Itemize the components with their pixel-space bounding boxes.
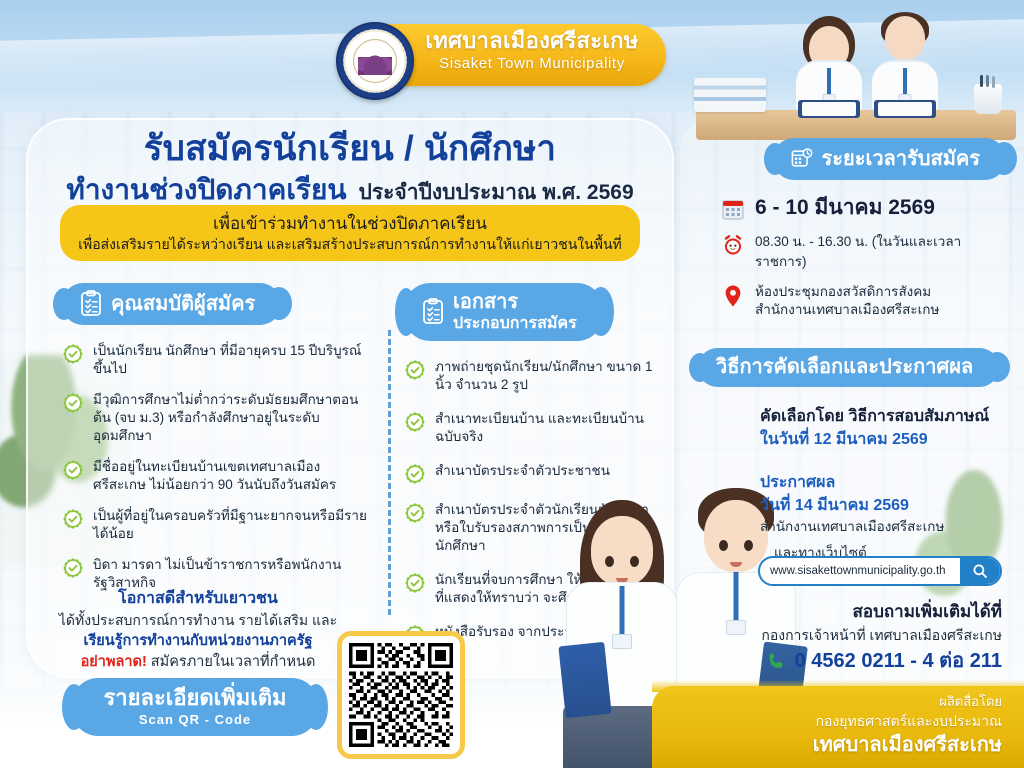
check-badge-icon [404, 463, 426, 485]
period-time-row: 08.30 น. - 16.30 น. (ในวันและเวลาราชการ) [722, 232, 1006, 272]
check-badge-icon [404, 359, 426, 381]
promo-line3: เรียนรู้การทำงานกับหน่วยงานภาครัฐ [40, 631, 356, 652]
footer-text-block: ผลิตสื่อโดย กองยุทธศาสตร์และงบประมาณ เทศ… [672, 692, 1002, 759]
period-place-block: ห้องประชุมกองสวัสดิการสังคม สำนักงานเทศบ… [755, 283, 939, 319]
list-item-text: เป็นผู้ที่อยู่ในครอบครัวที่มีฐานะยากจนหร… [93, 507, 372, 543]
lanyard-shape [620, 586, 625, 638]
header-text-block: เทศบาลเมืองศรีสะเกษ Sisaket Town Municip… [406, 28, 658, 73]
selection-heading-label: วิธีการคัดเลือกและประกาศผล [716, 355, 973, 379]
list-item: ภาพถ่ายชุดนักเรียน/นักศึกษา ขนาด 1 นิ้ว … [404, 358, 666, 394]
result-place: สำนักงานเทศบาลเมืองศรีสะเกษ [760, 517, 1004, 537]
selection-method-line1: คัดเลือกโดย วิธีการสอบสัมภาษณ์ [760, 405, 1004, 428]
promo-alert-text: อย่าพลาด! [81, 654, 147, 670]
head-shape [885, 16, 925, 60]
page-title: รับสมัครนักเรียน / นักศึกษา [40, 128, 660, 170]
book-shape [558, 642, 611, 718]
list-item: มีวุฒิการศึกษาไม่ต่ำกว่าระดับมัธยมศึกษาต… [62, 391, 372, 445]
purpose-banner-line2: เพื่อส่งเสริมรายได้ระหว่างเรียน และเสริม… [78, 235, 622, 254]
more-details-pill[interactable]: รายละเอียดเพิ่มเติม Scan QR - Code [72, 678, 318, 736]
application-period-heading-label: ระยะเวลารับสมัคร [822, 147, 980, 171]
check-badge-icon [62, 343, 84, 365]
promo-line4: อย่าพลาด! สมัครภายในเวลาที่กำหนด [40, 652, 356, 673]
promo-line1: โอกาสดีสำหรับเยาวชน [40, 588, 356, 610]
poster-title-block: รับสมัครนักเรียน / นักศึกษา ทำงานช่วงปิด… [40, 128, 660, 210]
application-period-section: ระยะเวลารับสมัคร 6 - 10 มีนาคม 2569 [694, 138, 1006, 330]
list-item-text: บิดา มารดา ไม่เป็นข้าราชการหรือพนักงานรั… [93, 556, 372, 592]
documents-heading-line2: ประกอบการสมัคร [453, 314, 577, 333]
id-badge [612, 634, 632, 649]
illustration-office-students [688, 0, 1018, 140]
search-icon [972, 563, 988, 579]
list-item-text: สำเนาทะเบียนบ้าน และทะเบียนบ้านฉบับจริง [435, 410, 666, 446]
eye-shape [605, 556, 614, 567]
qualifications-section: คุณสมบัติผู้สมัคร เป็นนักเรียน นักศึกษา … [62, 283, 372, 605]
period-date-row: 6 - 10 มีนาคม 2569 [722, 196, 1006, 221]
result-label: ประกาศผล [760, 471, 1004, 494]
column-divider [388, 330, 391, 615]
location-pin-icon [722, 284, 744, 308]
qr-code[interactable] [337, 631, 465, 759]
documents-heading-label-group: เอกสาร ประกอบการสมัคร [453, 290, 577, 333]
illustration-person-female [790, 20, 868, 112]
contact-phone-number: 0 4562 0211 - 4 ต่อ 211 [795, 648, 1002, 674]
municipality-seal-icon [336, 22, 414, 100]
footer-organization: เทศบาลเมืองศรีสะเกษ [672, 732, 1002, 759]
phone-icon [767, 651, 787, 671]
contact-office: กองการเจ้าหน้าที่ เทศบาลเมืองศรีสะเกษ [706, 624, 1002, 646]
application-period-heading-pill: ระยะเวลารับสมัคร [773, 138, 1006, 180]
list-item-text: เป็นนักเรียน นักศึกษา ที่มีอายุครบ 15 ปี… [93, 342, 372, 378]
period-date-value: 6 - 10 มีนาคม 2569 [755, 196, 935, 220]
clipboard-shape [874, 100, 936, 118]
page-subtitle: ทำงานช่วงปิดภาคเรียน [66, 172, 346, 208]
footer-division: กองยุทธศาสตร์และงบประมาณ [672, 711, 1002, 732]
footer-ribbon: ผลิตสื่อโดย กองยุทธศาสตร์และงบประมาณ เทศ… [652, 686, 1024, 768]
promo-deadline-text: สมัครภายในเวลาที่กำหนด [147, 654, 316, 670]
website-url-value[interactable]: www.sisakettownmunicipality.go.th [760, 565, 960, 577]
list-item: มีชื่ออยู่ในทะเบียนบ้านเขตเทศบาลเมืองศรี… [62, 458, 372, 494]
seal-emblem [358, 49, 392, 75]
contact-section: สอบถามเพิ่มเติมได้ที่ กองการเจ้าหน้าที่ … [706, 600, 1002, 674]
clipboard-icon [422, 298, 444, 325]
list-item-text: มีชื่ออยู่ในทะเบียนบ้านเขตเทศบาลเมืองศรี… [93, 458, 372, 494]
check-badge-icon [404, 572, 426, 594]
header-banner: เทศบาลเมืองศรีสะเกษ Sisaket Town Municip… [336, 22, 666, 90]
check-badge-icon [62, 459, 84, 481]
period-place-row: ห้องประชุมกองสวัสดิการสังคม สำนักงานเทศบ… [722, 283, 1006, 319]
check-badge-icon [62, 392, 84, 414]
list-item-text: มีวุฒิการศึกษาไม่ต่ำกว่าระดับมัธยมศึกษาต… [93, 391, 372, 445]
list-item: เป็นนักเรียน นักศึกษา ที่มีอายุครบ 15 ปี… [62, 342, 372, 378]
application-period-heading-row: ระยะเวลารับสมัคร [694, 138, 1006, 180]
check-badge-icon [62, 508, 84, 530]
search-button[interactable] [960, 558, 1000, 584]
documents-heading-line1: เอกสาร [453, 290, 577, 314]
period-time-value: 08.30 น. - 16.30 น. (ในวันและเวลาราชการ) [755, 232, 1006, 272]
illustration-person-male [864, 16, 946, 112]
eye-shape [630, 556, 639, 567]
poster-canvas: เทศบาลเมืองศรีสะเกษ Sisaket Town Municip… [0, 0, 1024, 768]
selection-heading-row: วิธีการคัดเลือกและประกาศผล [688, 348, 1004, 387]
clipboard-icon [80, 290, 102, 317]
calendar-icon [722, 197, 744, 221]
selection-section: วิธีการคัดเลือกและประกาศผล คัดเลือกโดย ว… [688, 348, 1004, 563]
website-search-bar[interactable]: www.sisakettownmunicipality.go.th [758, 556, 1002, 586]
documents-heading-pill: เอกสาร ประกอบการสมัคร [404, 283, 603, 341]
result-date: วันที่ 14 มีนาคม 2569 [760, 494, 1004, 517]
check-badge-icon [404, 502, 426, 524]
alarm-clock-icon [722, 233, 744, 257]
spacer [760, 451, 1004, 471]
promo-section: โอกาสดีสำหรับเยาวชน ได้ทั้งประสบการณ์การ… [40, 588, 356, 673]
contact-title: สอบถามเพิ่มเติมได้ที่ [706, 600, 1002, 624]
calendar-clock-icon [791, 145, 813, 172]
pen-cup [974, 84, 1002, 114]
more-details-label-english: Scan QR - Code [82, 711, 308, 728]
head-shape [591, 516, 653, 586]
qr-code-svg [349, 643, 453, 747]
selection-details: คัดเลือกโดย วิธีการสอบสัมภาษณ์ ในวันที่ … [688, 405, 1004, 563]
check-badge-icon [62, 557, 84, 579]
qr-code-matrix [349, 643, 453, 747]
qualifications-heading-pill: คุณสมบัติผู้สมัคร [62, 283, 281, 325]
qualifications-list: เป็นนักเรียน นักศึกษา ที่มีอายุครบ 15 ปี… [62, 342, 372, 605]
promo-line2: ได้ทั้งประสบการณ์การทำงาน รายได้เสริม แล… [40, 610, 356, 631]
period-place-line2: สำนักงานเทศบาลเมืองศรีสะเกษ [755, 301, 939, 319]
purpose-banner-line1: เพื่อเข้าร่วมทำงานในช่วงปิดภาคเรียน [213, 213, 487, 235]
more-details-label-thai: รายละเอียดเพิ่มเติม [82, 684, 308, 711]
contact-phone-row: 0 4562 0211 - 4 ต่อ 211 [706, 648, 1002, 674]
list-item-text: ภาพถ่ายชุดนักเรียน/นักศึกษา ขนาด 1 นิ้ว … [435, 358, 666, 394]
list-item: เป็นผู้ที่อยู่ในครอบครัวที่มีฐานะยากจนหร… [62, 507, 372, 543]
selection-heading-pill: วิธีการคัดเลือกและประกาศผล [698, 348, 999, 387]
selection-method-line2: ในวันที่ 12 มีนาคม 2569 [760, 428, 1004, 451]
clipboard-shape [798, 100, 860, 118]
list-item: บิดา มารดา ไม่เป็นข้าราชการหรือพนักงานรั… [62, 556, 372, 592]
application-period-rows: 6 - 10 มีนาคม 2569 08.30 น. - 16.30 น. (… [694, 196, 1006, 319]
period-place-line1: ห้องประชุมกองสวัสดิการสังคม [755, 283, 939, 301]
check-badge-icon [404, 411, 426, 433]
qualifications-heading-label: คุณสมบัติผู้สมัคร [111, 292, 255, 316]
purpose-banner: เพื่อเข้าร่วมทำงานในช่วงปิดภาคเรียน เพื่… [72, 205, 628, 261]
header-title-thai: เทศบาลเมืองศรีสะเกษ [406, 28, 658, 54]
books-stack [694, 78, 766, 112]
header-title-english: Sisaket Town Municipality [406, 54, 658, 73]
footer-produced-by: ผลิตสื่อโดย [672, 692, 1002, 711]
list-item: สำเนาทะเบียนบ้าน และทะเบียนบ้านฉบับจริง [404, 410, 666, 446]
